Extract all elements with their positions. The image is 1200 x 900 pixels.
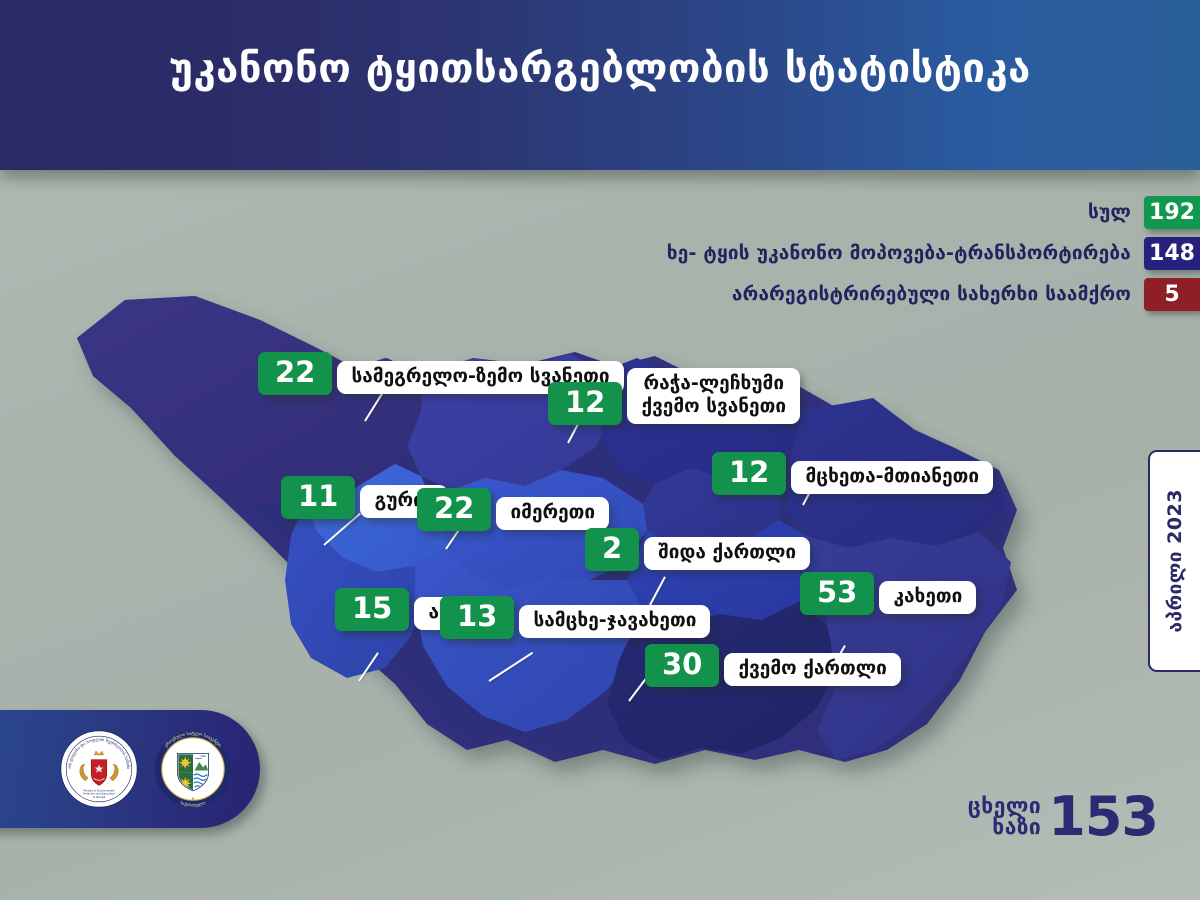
- legend-row-sawmill: არარეგისტრირებული სახერხი საამქრო 5: [667, 278, 1200, 310]
- marker-value-adjara: 15: [335, 588, 409, 631]
- legend-badge-sawmill: 5: [1144, 278, 1200, 311]
- hotline-label-line1: ცხელი: [968, 796, 1042, 817]
- marker-racha[interactable]: 12 რაჭა-ლეჩხუმი ქვემო სვანეთი: [548, 372, 800, 425]
- legend-badge-total: 192: [1144, 196, 1200, 229]
- marker-label-kakheti: კახეთი: [879, 581, 976, 614]
- hotline-label-line2: ხაზი: [968, 817, 1042, 838]
- marker-shida-kartli[interactable]: 2 შიდა ქართლი: [585, 528, 810, 571]
- legend-label-logging: ხე- ტყის უკანონო მოპოვება-ტრანსპორტირება: [667, 242, 1131, 264]
- legend-badge-logging: 148: [1144, 237, 1200, 270]
- forestry-agency-seal-icon: ეროვნული სატყეო სააგენტო საქართველო: [154, 730, 232, 808]
- page-title: უკანონო ტყითსარგებლობის სტატისტიკა: [0, 46, 1200, 92]
- marker-value-imereti: 22: [417, 488, 491, 531]
- marker-value-guria: 11: [281, 476, 355, 519]
- header-banner: უკანონო ტყითსარგებლობის სტატისტიკა: [0, 0, 1200, 170]
- marker-value-mtskheta: 12: [712, 452, 786, 495]
- legend-row-logging: ხე- ტყის უკანონო მოპოვება-ტრანსპორტირება…: [667, 237, 1200, 269]
- marker-kakheti[interactable]: 53 კახეთი: [800, 572, 976, 615]
- marker-label-mtskheta: მცხეთა-მთიანეთი: [791, 461, 993, 494]
- hotline: ცხელი ხაზი 153: [968, 792, 1158, 842]
- hotline-label: ცხელი ხაზი: [968, 796, 1042, 838]
- legend: სულ 192 ხე- ტყის უკანონო მოპოვება-ტრანსპ…: [667, 196, 1200, 319]
- marker-label-imereti: იმერეთი: [496, 497, 609, 530]
- marker-label-shida-kartli: შიდა ქართლი: [644, 537, 810, 570]
- marker-value-samtskhe: 13: [440, 596, 514, 639]
- marker-value-shida-kartli: 2: [585, 528, 639, 571]
- infographic-root: უკანონო ტყითსარგებლობის სტატისტიკა სულ 1…: [0, 0, 1200, 900]
- svg-text:of Georgia: of Georgia: [93, 796, 106, 799]
- hotline-number: 153: [1048, 792, 1158, 842]
- marker-value-racha: 12: [548, 382, 622, 425]
- ministry-seal-icon: გარემოს დაცვისა და სოფლის მეურნეობის სამ…: [60, 730, 138, 808]
- svg-text:1918-2018: 1918-2018: [94, 802, 105, 804]
- legend-row-total: სულ 192: [667, 196, 1200, 228]
- marker-imereti[interactable]: 22 იმერეთი: [417, 488, 609, 531]
- marker-value-kvemo-kartli: 30: [645, 644, 719, 687]
- date-card: აპრილი 2023: [1148, 450, 1200, 672]
- marker-mtskheta[interactable]: 12 მცხეთა-მთიანეთი: [712, 452, 993, 495]
- logo-bar: გარემოს დაცვისა და სოფლის მეურნეობის სამ…: [0, 710, 260, 828]
- marker-label-racha: რაჭა-ლეჩხუმი ქვემო სვანეთი: [627, 368, 800, 424]
- marker-samtskhe[interactable]: 13 სამცხე-ჯავახეთი: [440, 596, 710, 639]
- marker-kvemo-kartli[interactable]: 30 ქვემო ქართლი: [645, 644, 901, 687]
- marker-value-kakheti: 53: [800, 572, 874, 615]
- marker-label-kvemo-kartli: ქვემო ქართლი: [724, 653, 900, 686]
- marker-value-samegrelo: 22: [258, 352, 332, 395]
- legend-label-total: სულ: [1088, 201, 1131, 223]
- date-label: აპრილი 2023: [1164, 489, 1186, 633]
- legend-label-sawmill: არარეგისტრირებული სახერხი საამქრო: [732, 283, 1131, 305]
- marker-label-samtskhe: სამცხე-ჯავახეთი: [519, 605, 710, 638]
